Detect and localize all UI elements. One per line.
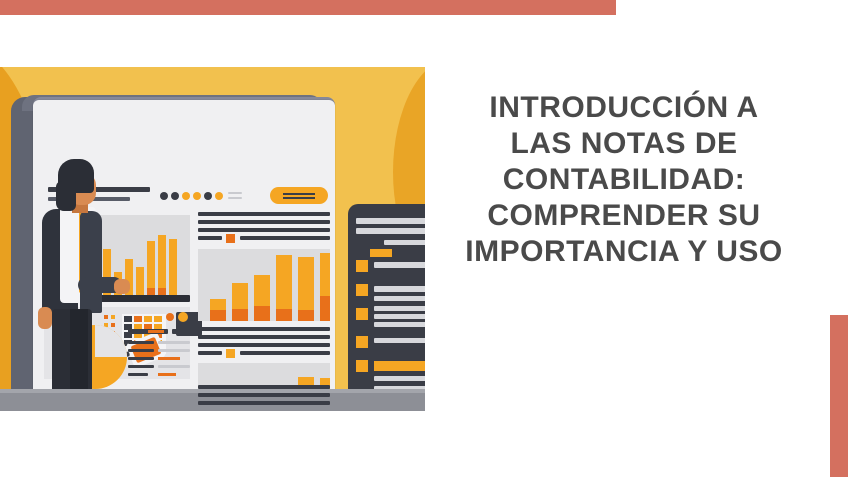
rtext-line bbox=[198, 228, 330, 232]
menu-line-2 bbox=[283, 197, 315, 199]
rack-row bbox=[374, 262, 425, 268]
rack-chip bbox=[370, 249, 392, 257]
rack-row bbox=[374, 376, 425, 381]
server-list-panel bbox=[348, 204, 425, 409]
rack-row bbox=[374, 286, 425, 292]
hero-illustration bbox=[0, 67, 425, 411]
suit-jacket-right bbox=[80, 211, 102, 313]
rack-row bbox=[374, 322, 425, 327]
report-line bbox=[158, 365, 190, 368]
rtext-line bbox=[198, 401, 330, 405]
rack-chip bbox=[356, 260, 368, 272]
rtext-line bbox=[240, 236, 330, 240]
hand-left bbox=[38, 307, 52, 329]
slide-root: { "slide": { "title": "Introducción a la… bbox=[0, 0, 848, 477]
page-title: INTRODUCCIÓN A LAS NOTAS DE CONTABILIDAD… bbox=[424, 90, 824, 270]
report-dot-1 bbox=[166, 313, 174, 321]
status-dot-2 bbox=[171, 192, 179, 200]
report-accent bbox=[148, 330, 164, 333]
bar bbox=[169, 239, 177, 299]
bar-segment bbox=[276, 309, 292, 321]
status-dot-6 bbox=[215, 192, 223, 200]
board-menu-button[interactable] bbox=[270, 187, 328, 204]
rtext-line bbox=[198, 393, 330, 397]
bar bbox=[210, 299, 226, 321]
rack-row bbox=[374, 314, 425, 319]
rtext-line bbox=[198, 327, 330, 331]
status-dot-3 bbox=[182, 192, 190, 200]
rack-chip bbox=[356, 360, 368, 372]
calc-key bbox=[144, 316, 152, 322]
report-dot-2 bbox=[178, 312, 188, 322]
rtext-line bbox=[198, 236, 222, 240]
status-dot-4 bbox=[193, 192, 201, 200]
bar bbox=[276, 255, 292, 321]
report-line-accent bbox=[158, 373, 176, 376]
rack-row bbox=[374, 306, 425, 311]
report-line bbox=[158, 341, 190, 344]
rtext-marker bbox=[226, 349, 235, 358]
report-line bbox=[158, 349, 190, 352]
bar bbox=[254, 275, 270, 321]
bar bbox=[232, 283, 248, 321]
rtext-line bbox=[198, 220, 330, 224]
rack-chip bbox=[356, 336, 368, 348]
report-line-accent bbox=[158, 357, 180, 360]
bar bbox=[158, 235, 166, 299]
rack-row bbox=[356, 218, 425, 224]
calc-key bbox=[154, 316, 162, 322]
rack-row bbox=[374, 338, 425, 343]
bar bbox=[298, 257, 314, 321]
bar-segment bbox=[298, 310, 314, 321]
businessman-figure bbox=[34, 159, 144, 409]
bar bbox=[147, 241, 155, 299]
rtext-line bbox=[240, 351, 330, 355]
status-label-line-2 bbox=[228, 197, 242, 199]
rack-row bbox=[374, 296, 425, 301]
rtext-line bbox=[198, 335, 330, 339]
bar-segment bbox=[232, 309, 248, 321]
rtext-line bbox=[198, 351, 222, 355]
rtext-line bbox=[198, 212, 330, 216]
rack-chip bbox=[356, 284, 368, 296]
right-accent-bar bbox=[830, 315, 848, 477]
hair-back bbox=[56, 181, 76, 211]
rtext-line bbox=[198, 343, 330, 347]
status-dot-5 bbox=[204, 192, 212, 200]
status-dot-1 bbox=[160, 192, 168, 200]
bar-segment bbox=[254, 306, 270, 321]
rack-row bbox=[384, 240, 425, 245]
bar-segment bbox=[320, 296, 330, 321]
hand-right bbox=[114, 279, 130, 294]
report-heading-2 bbox=[172, 329, 190, 334]
rack-chip bbox=[356, 308, 368, 320]
top-accent-bar bbox=[0, 0, 616, 15]
right-upper-chart-bars bbox=[198, 249, 330, 321]
menu-line-1 bbox=[283, 193, 315, 195]
status-label-line-1 bbox=[228, 192, 242, 194]
rack-chip bbox=[374, 361, 425, 371]
bar bbox=[320, 253, 330, 321]
bar-segment bbox=[210, 310, 226, 321]
rack-row bbox=[356, 228, 425, 234]
rtext-line bbox=[198, 385, 330, 389]
rtext-marker bbox=[226, 234, 235, 243]
